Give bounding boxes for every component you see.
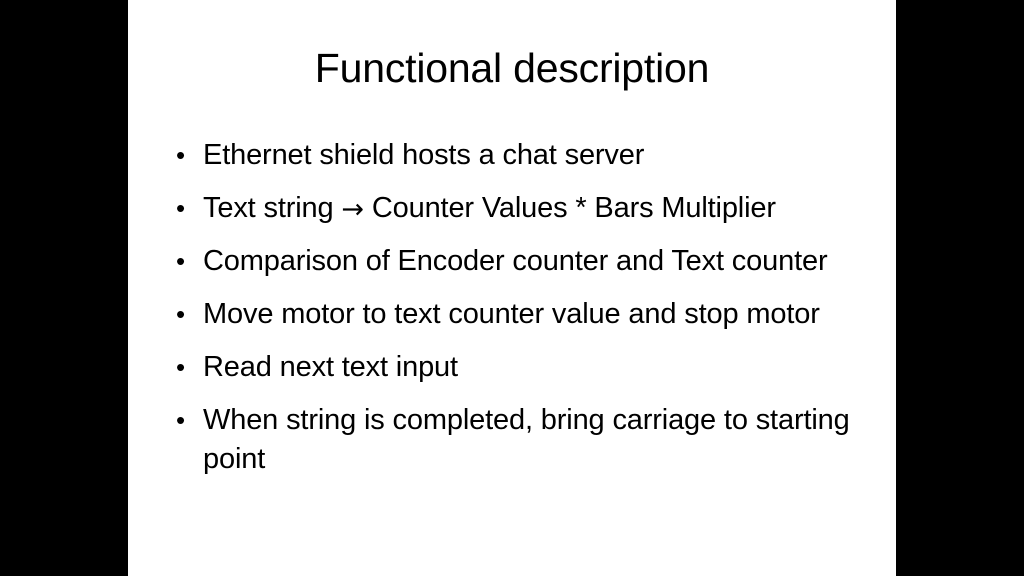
list-item-label: Read next text input (203, 348, 882, 387)
bullet-list: • Ethernet shield hosts a chat server • … (170, 136, 882, 493)
list-item-label: Text string → Counter Values * Bars Mult… (203, 189, 882, 228)
list-item: • Move motor to text counter value and s… (170, 295, 882, 334)
bullet-point-icon: • (176, 295, 190, 334)
list-item: • Read next text input (170, 348, 882, 387)
letterbox-right (896, 0, 1024, 576)
bullet-point-icon: • (176, 242, 190, 281)
list-item-label: Move motor to text counter value and sto… (203, 295, 882, 334)
slide-canvas: Functional description • Ethernet shield… (128, 0, 896, 576)
list-item-label: When string is completed, bring carriage… (203, 401, 882, 479)
page-title: Functional description (128, 44, 896, 92)
bullet-point-icon: • (176, 401, 190, 440)
letterbox-left (0, 0, 128, 576)
list-item-text-before-arrow: Text string (203, 192, 341, 224)
list-item: • Text string → Counter Values * Bars Mu… (170, 189, 882, 228)
list-item: • When string is completed, bring carria… (170, 401, 882, 479)
list-item-label: Ethernet shield hosts a chat server (203, 136, 882, 175)
list-item: • Comparison of Encoder counter and Text… (170, 242, 882, 281)
list-item: • Ethernet shield hosts a chat server (170, 136, 882, 175)
bullet-point-icon: • (176, 348, 190, 387)
list-item-label: Comparison of Encoder counter and Text c… (203, 242, 882, 281)
presentation-screen: Functional description • Ethernet shield… (0, 0, 1024, 576)
right-arrow-icon: → (341, 194, 363, 225)
bullet-point-icon: • (176, 136, 190, 175)
bullet-point-icon: • (176, 189, 190, 228)
list-item-text-after-arrow: Counter Values * Bars Multiplier (364, 192, 776, 224)
